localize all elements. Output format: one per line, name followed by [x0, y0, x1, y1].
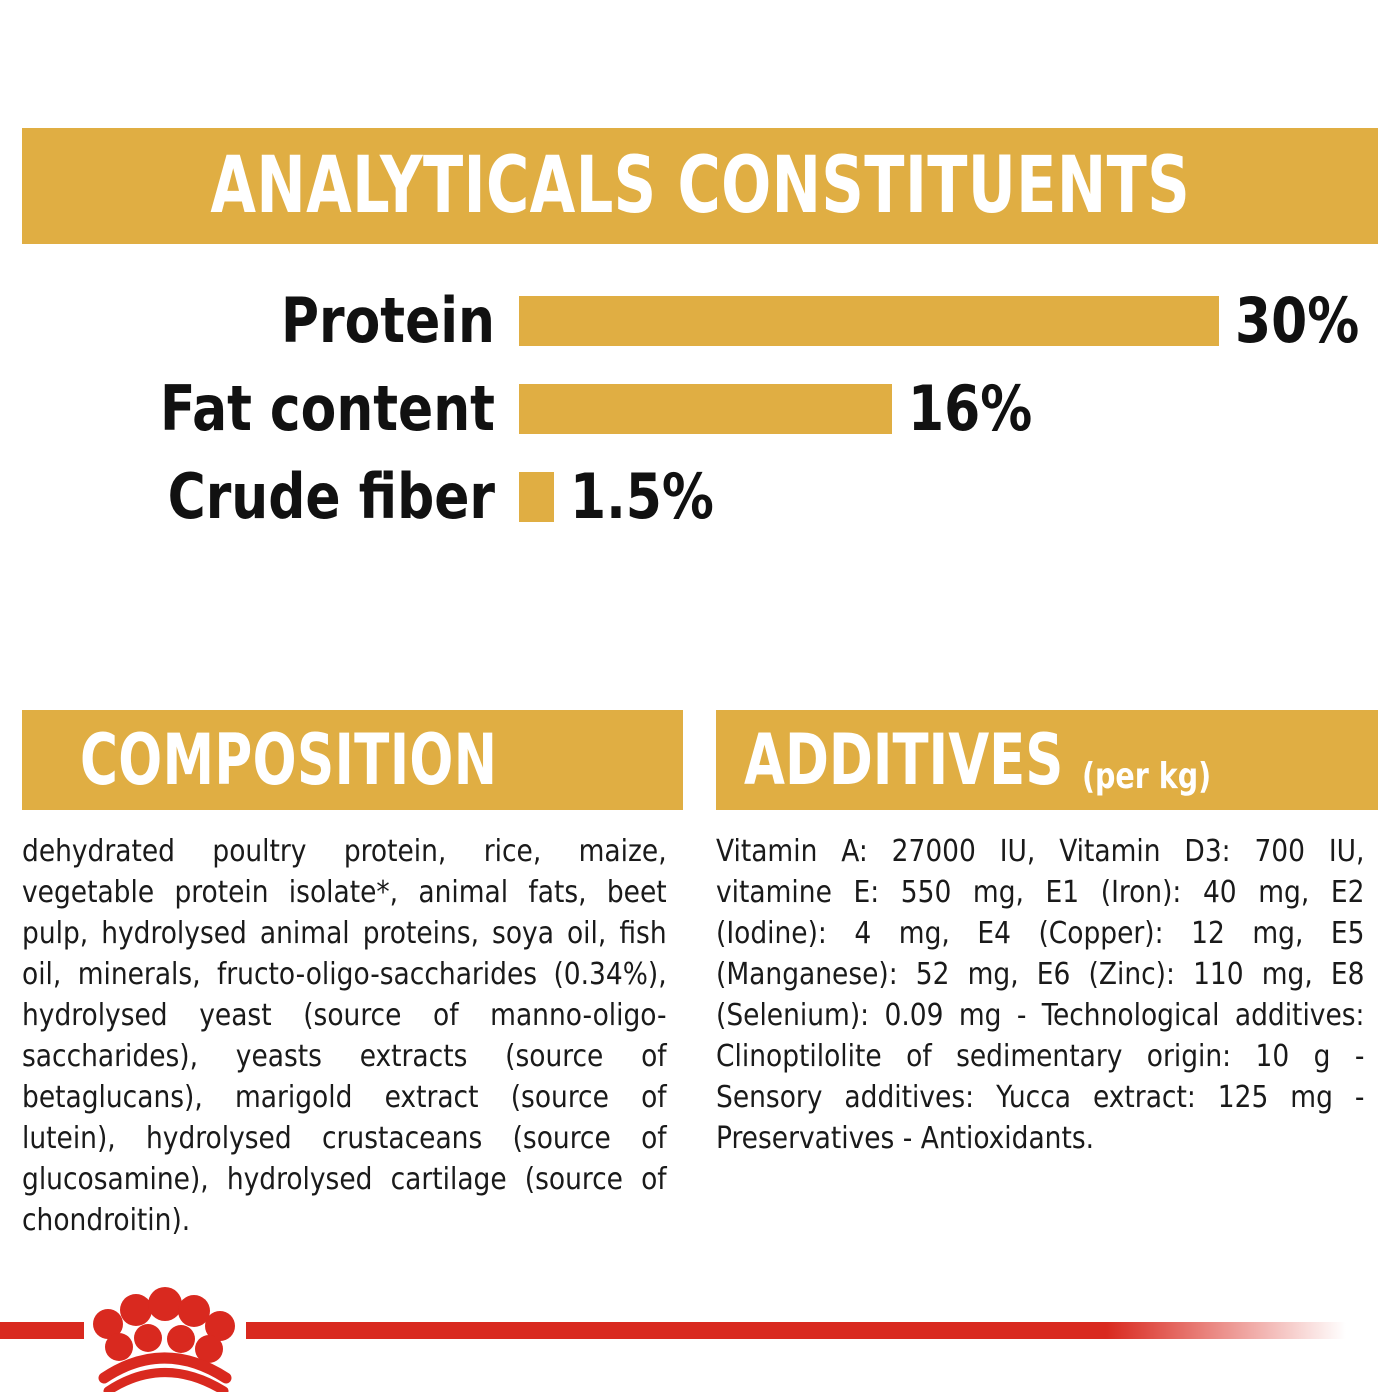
chart-value-crude-fiber: 1.5%: [570, 472, 714, 522]
additives-banner: ADDITIVES (per kg): [716, 710, 1378, 810]
footer-rule-right: [246, 1322, 1400, 1339]
chart-value-fat-content: 16%: [908, 384, 1032, 434]
chart-label-fat-content: Fat content: [35, 384, 495, 434]
additives-title: ADDITIVES: [744, 725, 1063, 795]
chart-row-crude-fiber: Crude fiber 1.5%: [0, 472, 1400, 522]
chart-label-protein: Protein: [35, 296, 495, 346]
additives-per-kg-label: (per kg): [1082, 759, 1211, 795]
product-label-page: ANALYTICALS CONSTITUENTS Protein 30% Fat…: [0, 0, 1400, 1400]
chart-bar-protein: [519, 296, 1219, 346]
analyticals-constituents-title: ANALYTICALS CONSTITUENTS: [210, 147, 1190, 225]
footer-brand-bar: [0, 1280, 1400, 1400]
chart-value-protein: 30%: [1235, 296, 1359, 346]
chart-label-crude-fiber: Crude fiber: [35, 472, 495, 522]
composition-ingredients-text: dehydrated poultry protein, rice, maize,…: [22, 831, 667, 1241]
chart-row-protein: Protein 30%: [0, 296, 1400, 346]
analyticals-constituents-banner: ANALYTICALS CONSTITUENTS: [22, 128, 1378, 244]
additives-list-text: Vitamin A: 27000 IU, Vitamin D3: 700 IU,…: [716, 831, 1364, 1159]
royal-canin-crown-icon: [86, 1280, 238, 1392]
composition-banner: COMPOSITION: [22, 710, 683, 810]
nutrition-bar-chart: Protein 30% Fat content 16% Crude fiber …: [0, 280, 1400, 540]
chart-bar-fat-content: [519, 384, 892, 434]
composition-title: COMPOSITION: [80, 725, 497, 795]
additives-title-group: ADDITIVES (per kg): [744, 725, 1229, 795]
chart-row-fat-content: Fat content 16%: [0, 384, 1400, 434]
chart-bar-crude-fiber: [519, 472, 554, 522]
footer-rule-left: [0, 1322, 84, 1339]
